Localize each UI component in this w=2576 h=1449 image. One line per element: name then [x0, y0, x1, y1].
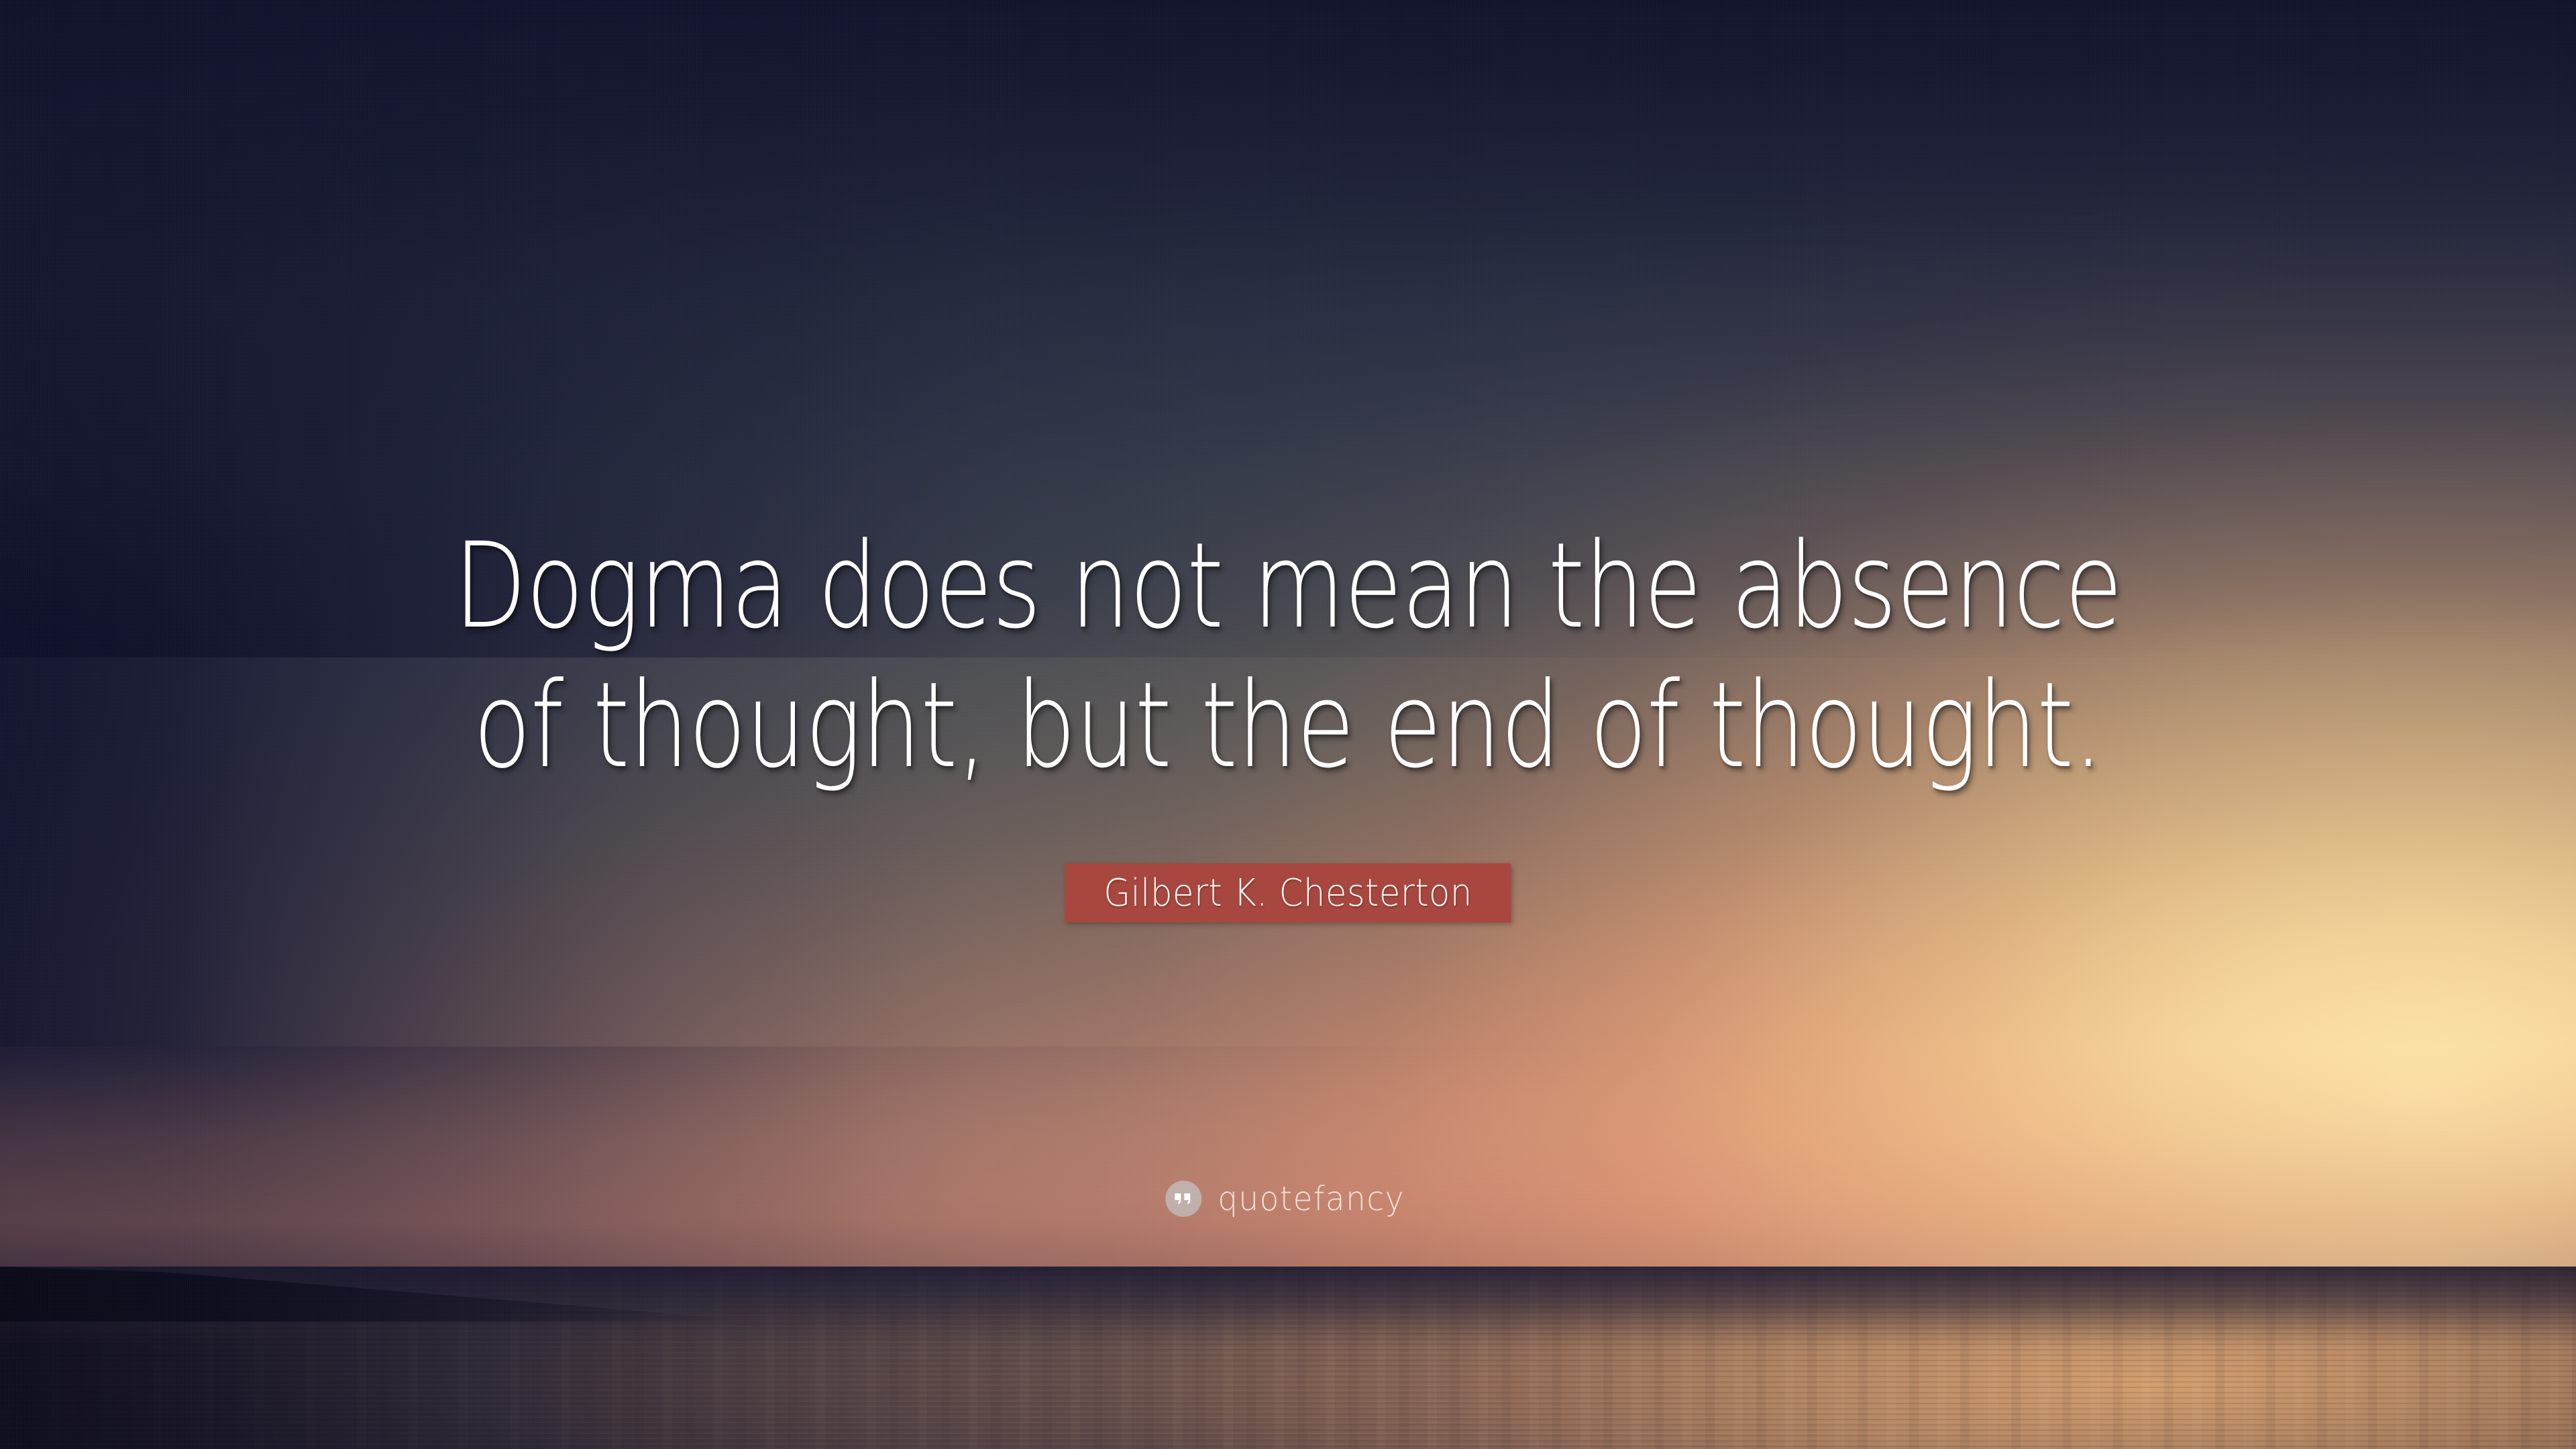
- quotefancy-watermark[interactable]: quotefancy: [1165, 1179, 1410, 1218]
- quote-line-1: Dogma does not mean the absence: [365, 517, 2211, 656]
- double-quote-icon: [1165, 1181, 1201, 1217]
- author-name: Gilbert K. Chesterton: [1104, 871, 1472, 915]
- quote-line-2: of thought, but the end of thought.: [365, 656, 2211, 796]
- quote-text: Dogma does not mean the absence of thoug…: [0, 517, 2576, 795]
- content-overlay: Dogma does not mean the absence of thoug…: [0, 0, 2576, 1449]
- quotefancy-brand-label: quotefancy: [1218, 1179, 1405, 1218]
- author-badge: Gilbert K. Chesterton: [1065, 863, 1511, 922]
- quote-wallpaper: Dogma does not mean the absence of thoug…: [0, 0, 2576, 1449]
